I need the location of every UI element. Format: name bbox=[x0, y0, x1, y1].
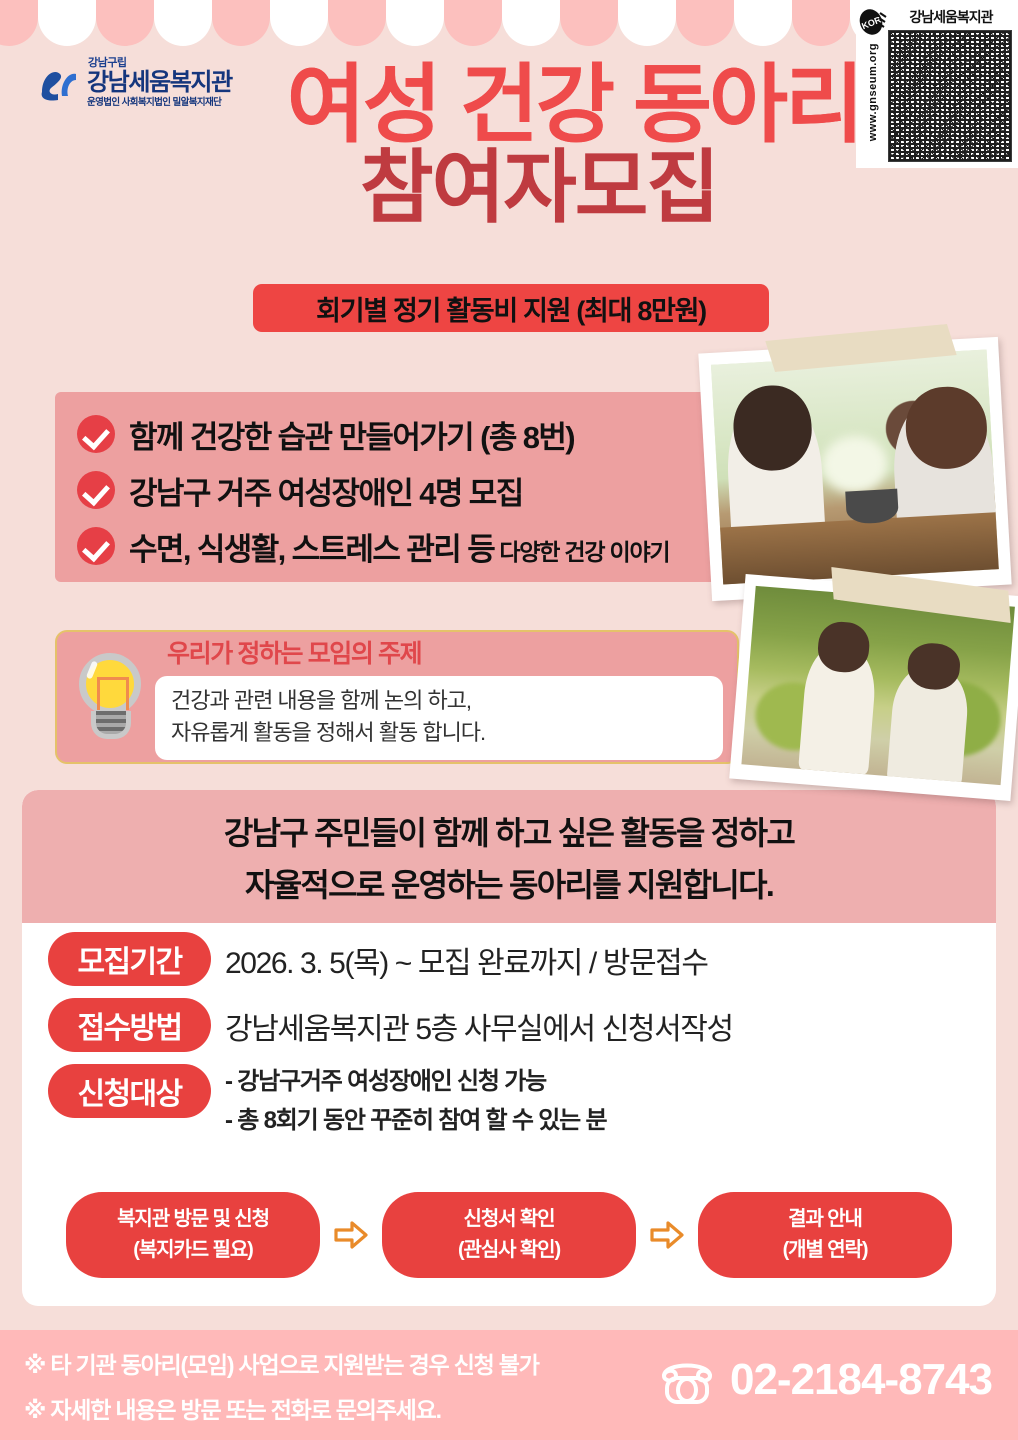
scallop-segment bbox=[96, 0, 154, 46]
scallop-segment bbox=[560, 0, 618, 46]
feature-bullet-label: 수면, 식생활, 스트레스 관리 등 다양한 건강 이야기 bbox=[129, 524, 669, 569]
step-arrow-icon bbox=[650, 1220, 684, 1250]
process-step: 신청서 확인(관심사 확인) bbox=[382, 1192, 636, 1278]
support-badge-label: 회기별 정기 활동비 지원 (최대 8만원) bbox=[316, 289, 706, 328]
feature-bullet: 함께 건강한 습관 만들어가기 (총 8번) bbox=[55, 406, 735, 462]
detail-row: 신청대상- 강남구거주 여성장애인 신청 가능- 총 8회기 동안 꾸준히 참여… bbox=[22, 1062, 996, 1141]
scallop-segment bbox=[38, 0, 96, 46]
logo-subtitle: 운영법인 사회복지법인 밀알복지재단 bbox=[87, 98, 232, 108]
qr-panel[interactable]: KOR www.gnseum.org 강남세움복지관 bbox=[856, 0, 1018, 168]
theme-idea-box: 우리가 정하는 모임의 주제 건강과 관련 내용을 함께 논의 하고, 자유롭게… bbox=[55, 630, 739, 764]
detail-row-value: 강남세움복지관 5층 사무실에서 신청서작성 bbox=[225, 996, 733, 1048]
process-step-line-1: 복지관 방문 및 신청 bbox=[90, 1204, 296, 1235]
mission-banner: 강남구 주민들이 함께 하고 싶은 활동을 정하고 자율적으로 운영하는 동아리… bbox=[22, 790, 996, 923]
check-icon bbox=[77, 471, 115, 509]
process-step-line-2: (복지카드 필요) bbox=[90, 1235, 296, 1266]
scallop-segment bbox=[328, 0, 386, 46]
process-step: 결과 안내(개별 연락) bbox=[698, 1192, 952, 1278]
organization-logo: 강남구립 강남세움복지관 운영법인 사회복지법인 밀알복지재단 bbox=[38, 58, 232, 108]
footer-contact[interactable]: 02-2184-8743 bbox=[656, 1352, 992, 1408]
feature-bullet-label: 강남구 거주 여성장애인 4명 모집 bbox=[129, 468, 523, 513]
poster-root: 강남구립 강남세움복지관 운영법인 사회복지법인 밀알복지재단 KOR www.… bbox=[0, 0, 1018, 1440]
scallop-segment bbox=[618, 0, 676, 46]
qr-right-column: 강남세움복지관 bbox=[888, 4, 1014, 164]
detail-row-value-line: - 강남구거주 여성장애인 신청 가능 bbox=[225, 1063, 606, 1102]
phone-number[interactable]: 02-2184-8743 bbox=[730, 1355, 992, 1405]
detail-row: 접수방법강남세움복지관 5층 사무실에서 신청서작성 bbox=[22, 996, 996, 1052]
detail-row-value-line: - 총 8회기 동안 꾸준히 참여 할 수 있는 분 bbox=[225, 1102, 606, 1141]
process-step-line-1: 결과 안내 bbox=[722, 1204, 928, 1235]
mission-banner-line-2: 자율적으로 운영하는 동아리를 지원합니다. bbox=[245, 860, 773, 906]
scallop-segment bbox=[0, 0, 38, 46]
mission-banner-line-1: 강남구 주민들이 함께 하고 싶은 활동을 정하고 bbox=[224, 808, 794, 854]
support-badge: 회기별 정기 활동비 지원 (최대 8만원) bbox=[253, 284, 769, 332]
feature-bullet: 강남구 거주 여성장애인 4명 모집 bbox=[55, 462, 735, 518]
detail-row-label: 접수방법 bbox=[78, 1003, 182, 1047]
check-icon bbox=[77, 527, 115, 565]
photo-cafe bbox=[698, 337, 1011, 601]
scallop-segment bbox=[676, 0, 734, 46]
detail-row-label-pill: 모집기간 bbox=[48, 932, 211, 986]
scallop-segment bbox=[386, 0, 444, 46]
detail-row-value-list: - 강남구거주 여성장애인 신청 가능- 총 8회기 동안 꾸준히 참여 할 수… bbox=[225, 1062, 606, 1141]
feature-bullet: 수면, 식생활, 스트레스 관리 등 다양한 건강 이야기 bbox=[55, 518, 735, 574]
qr-code-image[interactable] bbox=[888, 30, 1012, 162]
feature-bullet-sublabel: 다양한 건강 이야기 bbox=[494, 539, 669, 565]
qr-url-label: www.gnseum.org bbox=[867, 43, 879, 141]
theme-idea-title: 우리가 정하는 모임의 주제 bbox=[167, 634, 723, 670]
theme-idea-line-2: 자유롭게 활동을 정해서 활동 합니다. bbox=[171, 717, 707, 749]
telephone-icon bbox=[656, 1352, 718, 1408]
detail-row-label: 모집기간 bbox=[78, 937, 182, 981]
theme-idea-card: 건강과 관련 내용을 함께 논의 하고, 자유롭게 활동을 정해서 활동 합니다… bbox=[155, 676, 723, 760]
detail-rows: 모집기간2026. 3. 5(목) ~ 모집 완료까지 / 방문접수접수방법강남… bbox=[22, 930, 996, 1151]
scallop-segment bbox=[502, 0, 560, 46]
photo-cafe-image bbox=[711, 349, 999, 584]
process-step-line-2: (관심사 확인) bbox=[406, 1235, 612, 1266]
scallop-segment bbox=[734, 0, 792, 46]
footer-note-1: ※ 타 기관 동아리(모임) 사업으로 지원받는 경우 신청 불가 bbox=[24, 1346, 539, 1380]
process-step-line-1: 신청서 확인 bbox=[406, 1204, 612, 1235]
step-arrow-icon bbox=[334, 1220, 368, 1250]
scallop-segment bbox=[444, 0, 502, 46]
footer-notes: ※ 타 기관 동아리(모임) 사업으로 지원받는 경우 신청 불가 ※ 자세한 … bbox=[24, 1346, 539, 1425]
logo-main-name: 강남세움복지관 bbox=[87, 71, 232, 95]
detail-row-label: 신청대상 bbox=[78, 1069, 182, 1113]
detail-row: 모집기간2026. 3. 5(목) ~ 모집 완료까지 / 방문접수 bbox=[22, 930, 996, 986]
detail-row-value: 2026. 3. 5(목) ~ 모집 완료까지 / 방문접수 bbox=[225, 930, 708, 982]
scallop-segment bbox=[270, 0, 328, 46]
footer-bar: ※ 타 기관 동아리(모임) 사업으로 지원받는 경우 신청 불가 ※ 자세한 … bbox=[0, 1330, 1018, 1440]
logo-mark-icon bbox=[38, 62, 80, 104]
kor-badge-icon: KOR bbox=[859, 7, 887, 37]
process-step-line-2: (개별 연락) bbox=[722, 1235, 928, 1266]
process-step: 복지관 방문 및 신청(복지카드 필요) bbox=[66, 1192, 320, 1278]
qr-left-column: KOR www.gnseum.org bbox=[858, 4, 888, 164]
detail-row-label-pill: 접수방법 bbox=[48, 998, 211, 1052]
check-icon bbox=[77, 415, 115, 453]
footer-note-2: ※ 자세한 내용은 방문 또는 전화로 문의주세요. bbox=[24, 1391, 539, 1425]
detail-row-label-pill: 신청대상 bbox=[48, 1064, 211, 1118]
process-steps: 복지관 방문 및 신청(복지카드 필요)신청서 확인(관심사 확인)결과 안내(… bbox=[0, 1192, 1018, 1278]
lightbulb-icon bbox=[69, 649, 155, 745]
scallop-segment bbox=[154, 0, 212, 46]
theme-idea-line-1: 건강과 관련 내용을 함께 논의 하고, bbox=[171, 685, 707, 717]
logo-superscript: 강남구립 bbox=[88, 58, 232, 69]
feature-bullet-label: 함께 건강한 습관 만들어가기 (총 8번) bbox=[129, 412, 574, 457]
scallop-segment bbox=[792, 0, 850, 46]
scallop-segment bbox=[212, 0, 270, 46]
theme-idea-content: 우리가 정하는 모임의 주제 건강과 관련 내용을 함께 논의 하고, 자유롭게… bbox=[155, 634, 737, 760]
qr-org-name: 강남세움복지관 bbox=[888, 4, 1014, 30]
feature-bullet-panel: 함께 건강한 습관 만들어가기 (총 8번)강남구 거주 여성장애인 4명 모집… bbox=[55, 392, 735, 582]
